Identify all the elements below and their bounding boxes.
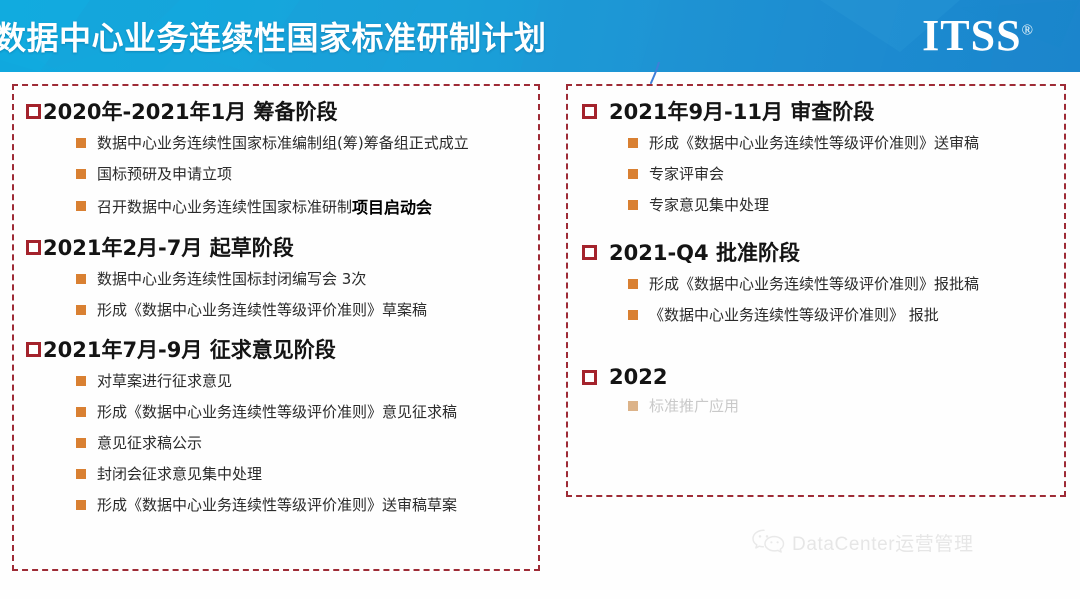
phase-title: 2022 [609,365,667,389]
phase-heading: 2021年2月-7月 起草阶段 [26,232,526,262]
list-item: 国标预研及申请立项 [26,163,526,184]
phase-title: 2020年-2021年1月 筹备阶段 [43,96,338,126]
list-item: 形成《数据中心业务连续性等级评价准则》草案稿 [26,299,526,320]
phase-block: 2020年-2021年1月 筹备阶段 数据中心业务连续性国家标准编制组(筹)筹备… [26,96,526,218]
square-bullet-icon [76,201,86,211]
hollow-square-icon [26,240,41,255]
list-item: 形成《数据中心业务连续性等级评价准则》送审稿 [580,132,1052,153]
list-item: 形成《数据中心业务连续性等级评价准则》意见征求稿 [26,401,526,422]
phase-block: 2021年2月-7月 起草阶段 数据中心业务连续性国标封闭编写会 3次 形成《数… [26,232,526,320]
phase-heading: 2021年9月-11月 审查阶段 [580,96,1052,126]
phase-heading: 2021-Q4 批准阶段 [580,237,1052,267]
square-bullet-icon [628,200,638,210]
header-banner: 数据中心业务连续性国家标准研制计划 ITSS® [0,0,1080,72]
phase-block: 2021年7月-9月 征求意见阶段 对草案进行征求意见 形成《数据中心业务连续性… [26,334,526,515]
watermark: DataCenter运营管理 [752,528,974,556]
phase-title: 2021年7月-9月 征求意见阶段 [43,334,336,364]
list-item-label: 对草案进行征求意见 [97,370,232,391]
bullet-list: 标准推广应用 [580,395,1052,416]
phase-title: 2021年9月-11月 审查阶段 [609,96,874,126]
list-item: 《数据中心业务连续性等级评价准则》 报批 [580,304,1052,325]
phase-block: 2022 标准推广应用 [580,365,1052,416]
list-item: 专家评审会 [580,163,1052,184]
list-item-label: 数据中心业务连续性国家标准编制组(筹)筹备组正式成立 [97,132,469,153]
list-item-label: 专家评审会 [649,163,724,184]
registered-trademark-icon: ® [1022,22,1034,38]
bullet-list: 形成《数据中心业务连续性等级评价准则》送审稿 专家评审会 专家意见集中处理 [580,132,1052,215]
square-bullet-icon [76,469,86,479]
hollow-square-icon [582,245,597,260]
phase-block: 2021年9月-11月 审查阶段 形成《数据中心业务连续性等级评价准则》送审稿 … [580,96,1052,215]
bullet-list: 对草案进行征求意见 形成《数据中心业务连续性等级评价准则》意见征求稿 意见征求稿… [26,370,526,515]
list-item: 专家意见集中处理 [580,194,1052,215]
square-bullet-icon [76,169,86,179]
square-bullet-icon [628,138,638,148]
square-bullet-icon [76,438,86,448]
list-item-label: 国标预研及申请立项 [97,163,232,184]
phase-block: 2021-Q4 批准阶段 形成《数据中心业务连续性等级评价准则》报批稿 《数据中… [580,237,1052,325]
phase-title: 2021-Q4 批准阶段 [609,237,800,267]
page-title: 数据中心业务连续性国家标准研制计划 [0,13,547,59]
watermark-label: DataCenter运营管理 [792,529,974,556]
phase-heading: 2022 [580,365,1052,389]
list-item-label: 形成《数据中心业务连续性等级评价准则》送审稿 [649,132,979,153]
wechat-icon [752,528,786,556]
square-bullet-icon [628,279,638,289]
list-item-label: 专家意见集中处理 [649,194,769,215]
phase-title: 2021年2月-7月 起草阶段 [43,232,294,262]
right-timeline-panel: 2021年9月-11月 审查阶段 形成《数据中心业务连续性等级评价准则》送审稿 … [566,84,1066,497]
itss-logo: ITSS® [922,14,1034,58]
list-item-label: 形成《数据中心业务连续性等级评价准则》意见征求稿 [97,401,457,422]
phase-heading: 2021年7月-9月 征求意见阶段 [26,334,526,364]
list-item-label: 形成《数据中心业务连续性等级评价准则》报批稿 [649,273,979,294]
list-item: 封闭会征求意见集中处理 [26,463,526,484]
square-bullet-icon [628,401,638,411]
list-item-label: 形成《数据中心业务连续性等级评价准则》送审稿草案 [97,494,457,515]
square-bullet-icon [628,310,638,320]
list-item-label: 召开数据中心业务连续性国家标准研制 [97,196,352,217]
list-item-label: 《数据中心业务连续性等级评价准则》 报批 [649,304,939,325]
bullet-list: 数据中心业务连续性国家标准编制组(筹)筹备组正式成立 国标预研及申请立项 召开数… [26,132,526,218]
list-item: 对草案进行征求意见 [26,370,526,391]
hollow-square-icon [26,342,41,357]
phase-heading: 2020年-2021年1月 筹备阶段 [26,96,526,126]
list-item: 数据中心业务连续性国标封闭编写会 3次 [26,268,526,289]
list-item: 形成《数据中心业务连续性等级评价准则》送审稿草案 [26,494,526,515]
bullet-list: 数据中心业务连续性国标封闭编写会 3次 形成《数据中心业务连续性等级评价准则》草… [26,268,526,320]
list-item-label: 封闭会征求意见集中处理 [97,463,262,484]
list-item-label: 形成《数据中心业务连续性等级评价准则》草案稿 [97,299,427,320]
square-bullet-icon [76,500,86,510]
list-item: 标准推广应用 [580,395,1052,416]
list-item: 意见征求稿公示 [26,432,526,453]
list-item-emphasis: 项目启动会 [352,194,432,218]
square-bullet-icon [76,376,86,386]
square-bullet-icon [76,274,86,284]
list-item: 召开数据中心业务连续性国家标准研制项目启动会 [26,194,526,218]
itss-logo-text: ITSS [922,11,1021,60]
square-bullet-icon [628,169,638,179]
hollow-square-icon [582,370,597,385]
list-item-label: 意见征求稿公示 [97,432,202,453]
bullet-list: 形成《数据中心业务连续性等级评价准则》报批稿 《数据中心业务连续性等级评价准则》… [580,273,1052,325]
list-item: 形成《数据中心业务连续性等级评价准则》报批稿 [580,273,1052,294]
list-item: 数据中心业务连续性国家标准编制组(筹)筹备组正式成立 [26,132,526,153]
hollow-square-icon [26,104,41,119]
square-bullet-icon [76,305,86,315]
square-bullet-icon [76,407,86,417]
left-timeline-panel: 2020年-2021年1月 筹备阶段 数据中心业务连续性国家标准编制组(筹)筹备… [12,84,540,571]
square-bullet-icon [76,138,86,148]
list-item-label: 标准推广应用 [649,395,739,416]
hollow-square-icon [582,104,597,119]
list-item-label: 数据中心业务连续性国标封闭编写会 3次 [97,268,366,289]
